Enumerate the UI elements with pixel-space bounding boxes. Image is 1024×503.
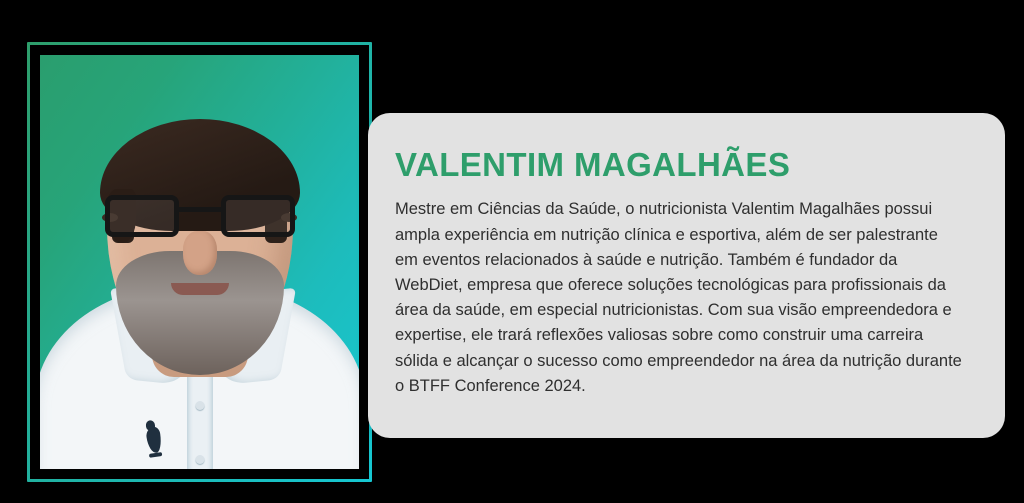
glasses-lens-right <box>221 195 295 237</box>
speaker-name: VALENTIM MAGALHÃES <box>395 147 963 183</box>
bird-icon <box>145 426 162 454</box>
glasses-bridge <box>178 207 222 212</box>
shirt-button-lower <box>195 455 204 464</box>
portrait-illustration <box>40 55 359 469</box>
eyeglasses-icon <box>105 195 295 239</box>
mouth <box>171 283 229 295</box>
speaker-profile-banner: VALENTIM MAGALHÃES Mestre em Ciências da… <box>0 0 1024 503</box>
glasses-lens-left <box>105 195 179 237</box>
shirt-button-upper <box>195 401 204 410</box>
speaker-bio: Mestre em Ciências da Saúde, o nutricion… <box>395 197 963 399</box>
speaker-photo-block <box>27 42 372 482</box>
speaker-photo <box>40 55 359 469</box>
speaker-info-card: VALENTIM MAGALHÃES Mestre em Ciências da… <box>368 113 1005 438</box>
